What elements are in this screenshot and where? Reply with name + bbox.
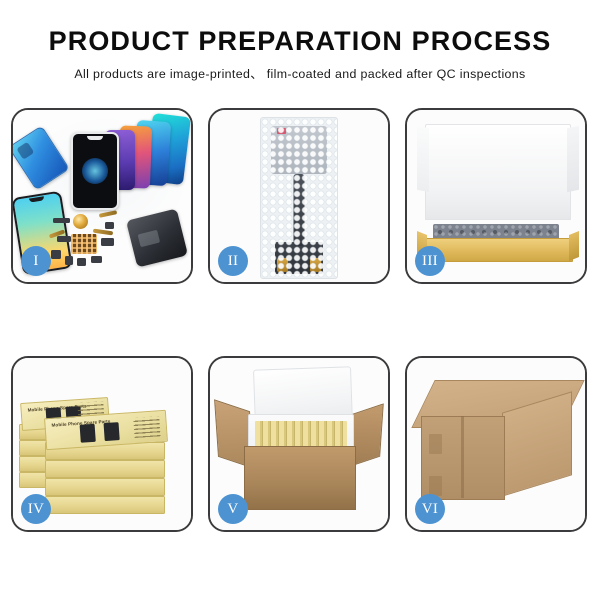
spare-part-icon [91, 256, 102, 263]
spare-part-icon [101, 238, 114, 246]
carton-body-icon [244, 446, 356, 510]
step-badge-2: II [218, 246, 248, 276]
process-step-card-5[interactable]: V [208, 356, 390, 532]
bubble-wrap-bag-icon [260, 117, 338, 279]
spare-part-icon [105, 222, 114, 229]
process-step-card-4[interactable]: Mobile Phone Spare Parts Mobile Phone Sp… [11, 356, 193, 532]
process-step-card-6[interactable]: VI [405, 356, 587, 532]
copper-coil-icon [73, 214, 88, 229]
mailer-box-lid-icon [425, 124, 571, 220]
process-step-grid: I II III [11, 108, 589, 532]
carton-handle-tab-icon [429, 434, 442, 454]
spare-part-icon [77, 258, 86, 266]
box-artwork-chip-icon [80, 424, 96, 443]
page-subtitle: All products are image-printed、 film-coa… [0, 64, 600, 82]
phone-back-cover-blue-icon [11, 125, 70, 190]
phone-display-black-icon [71, 132, 119, 210]
box-artwork-text-icon [133, 416, 160, 438]
page-title: PRODUCT PREPARATION PROCESS [0, 27, 600, 55]
phone-teardown-chassis-icon [126, 208, 188, 267]
process-step-card-2[interactable]: II [208, 108, 390, 284]
process-step-card-3[interactable]: III [405, 108, 587, 284]
mailer-box-base-icon [423, 238, 573, 262]
process-step-card-1[interactable]: I [11, 108, 193, 284]
spare-part-icon [53, 218, 70, 223]
step-badge-3: III [415, 246, 445, 276]
step-badge-5: V [218, 494, 248, 524]
spare-part-icon [65, 256, 73, 265]
carton-handle-tab-icon [429, 476, 442, 496]
bubble-texture-icon [261, 118, 337, 278]
carton-seam-icon [461, 416, 464, 498]
step-badge-6: VI [415, 494, 445, 524]
retail-box-icon [45, 478, 165, 496]
screw-tray-icon [71, 234, 97, 254]
page-header: PRODUCT PREPARATION PROCESS All products… [0, 0, 600, 82]
box-artwork-chip-icon [104, 422, 120, 441]
retail-box-icon [45, 496, 165, 514]
spare-part-icon [57, 236, 71, 242]
step-badge-4: IV [21, 494, 51, 524]
retail-box-icon [45, 460, 165, 478]
step-badge-1: I [21, 246, 51, 276]
flex-cable-icon [99, 210, 117, 218]
spare-part-icon [51, 250, 61, 259]
